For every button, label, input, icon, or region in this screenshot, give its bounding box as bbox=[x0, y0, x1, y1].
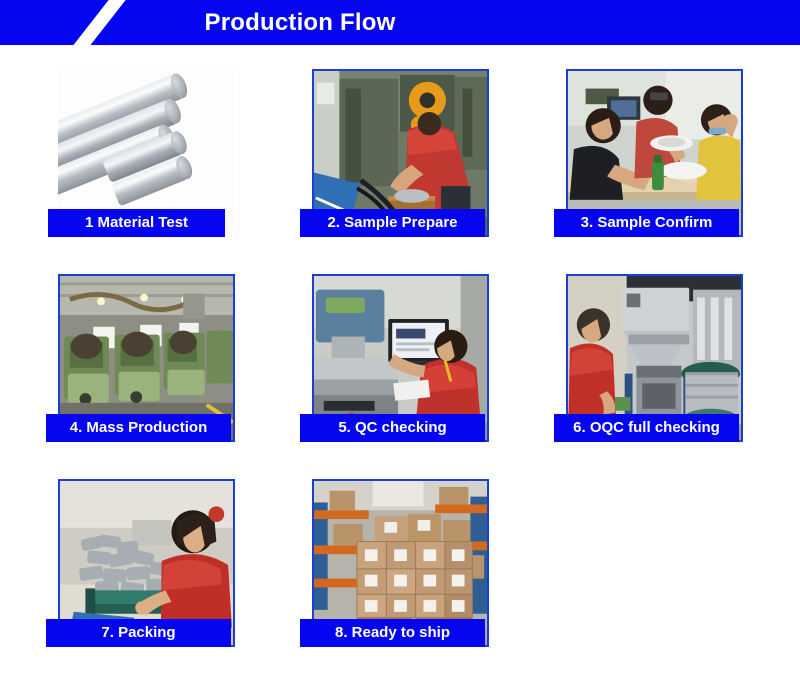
step-7-label: 7. Packing bbox=[46, 619, 231, 647]
step-1-label: 1 Material Test bbox=[48, 209, 225, 237]
flow-row-3: 7. Packing bbox=[0, 479, 800, 684]
flow-step-6[interactable]: 6. OQC full checking bbox=[556, 274, 800, 479]
page-header-banner: Production Flow bbox=[0, 0, 800, 45]
flow-step-1[interactable]: 1 Material Test bbox=[48, 69, 292, 274]
step-8-label: 8. Ready to ship bbox=[300, 619, 485, 647]
flow-step-3[interactable]: 3. Sample Confirm bbox=[556, 69, 800, 274]
production-flow-grid: 1 Material Test bbox=[0, 45, 800, 690]
step-3-label: 3. Sample Confirm bbox=[554, 209, 739, 237]
flow-step-5[interactable]: 5. QC checking bbox=[302, 274, 546, 479]
flow-step-7[interactable]: 7. Packing bbox=[48, 479, 292, 684]
step-4-label: 4. Mass Production bbox=[46, 414, 231, 442]
flow-step-2[interactable]: 2. Sample Prepare bbox=[302, 69, 546, 274]
flow-row-2: 4. Mass Production bbox=[0, 274, 800, 479]
step-5-label: 5. QC checking bbox=[300, 414, 485, 442]
step-6-label: 6. OQC full checking bbox=[554, 414, 739, 442]
flow-row-1: 1 Material Test bbox=[0, 69, 800, 274]
flow-step-8[interactable]: 8. Ready to ship bbox=[302, 479, 546, 684]
step-2-label: 2. Sample Prepare bbox=[300, 209, 485, 237]
flow-step-4[interactable]: 4. Mass Production bbox=[48, 274, 292, 479]
page-title: Production Flow bbox=[0, 0, 600, 45]
